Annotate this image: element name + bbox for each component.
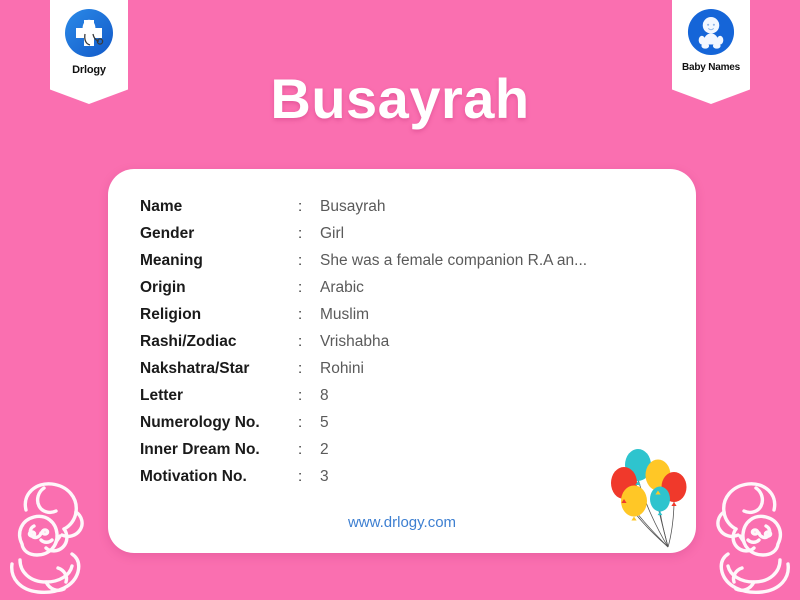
table-row: Meaning : She was a female companion R.A… (140, 247, 587, 274)
table-row: Numerology No. : 5 (140, 409, 587, 436)
row-separator: : (298, 247, 320, 274)
row-value: Vrishabha (320, 328, 587, 355)
row-label: Motivation No. (140, 463, 298, 490)
row-value: She was a female companion R.A an... (320, 247, 587, 274)
row-value: Muslim (320, 301, 587, 328)
row-label: Meaning (140, 247, 298, 274)
row-separator: : (298, 382, 320, 409)
row-value: 8 (320, 382, 587, 409)
row-separator: : (298, 220, 320, 247)
row-label: Letter (140, 382, 298, 409)
row-label: Gender (140, 220, 298, 247)
row-separator: : (298, 328, 320, 355)
table-row: Religion : Muslim (140, 301, 587, 328)
table-row: Rashi/Zodiac : Vrishabha (140, 328, 587, 355)
drlogy-medical-cross-doctor-icon (64, 8, 114, 58)
mother-and-baby-outline-icon-left (0, 472, 102, 598)
row-separator: : (298, 193, 320, 220)
row-label: Nakshatra/Star (140, 355, 298, 382)
mother-and-baby-outline-icon-right (698, 472, 800, 598)
row-separator: : (298, 355, 320, 382)
row-value: 5 (320, 409, 587, 436)
row-label: Religion (140, 301, 298, 328)
table-row: Motivation No. : 3 (140, 463, 587, 490)
name-details-table: Name : Busayrah Gender : Girl Meaning : … (140, 193, 587, 490)
row-value: Busayrah (320, 193, 587, 220)
row-separator: : (298, 301, 320, 328)
page-title: Busayrah (0, 66, 800, 131)
row-label: Name (140, 193, 298, 220)
row-separator: : (298, 463, 320, 490)
row-separator: : (298, 274, 320, 301)
row-label: Origin (140, 274, 298, 301)
row-value: 3 (320, 463, 587, 490)
table-row: Origin : Arabic (140, 274, 587, 301)
row-value: Girl (320, 220, 587, 247)
table-row: Nakshatra/Star : Rohini (140, 355, 587, 382)
balloons-icon (602, 443, 696, 553)
row-separator: : (298, 436, 320, 463)
row-separator: : (298, 409, 320, 436)
name-details-card: Name : Busayrah Gender : Girl Meaning : … (108, 169, 696, 553)
website-link[interactable]: www.drlogy.com (108, 514, 696, 531)
table-row: Name : Busayrah (140, 193, 587, 220)
row-label: Rashi/Zodiac (140, 328, 298, 355)
table-row: Letter : 8 (140, 382, 587, 409)
table-row: Inner Dream No. : 2 (140, 436, 587, 463)
row-value: Rohini (320, 355, 587, 382)
row-value: Arabic (320, 274, 587, 301)
row-label: Inner Dream No. (140, 436, 298, 463)
row-value: 2 (320, 436, 587, 463)
baby-icon (687, 8, 735, 56)
row-label: Numerology No. (140, 409, 298, 436)
table-row: Gender : Girl (140, 220, 587, 247)
